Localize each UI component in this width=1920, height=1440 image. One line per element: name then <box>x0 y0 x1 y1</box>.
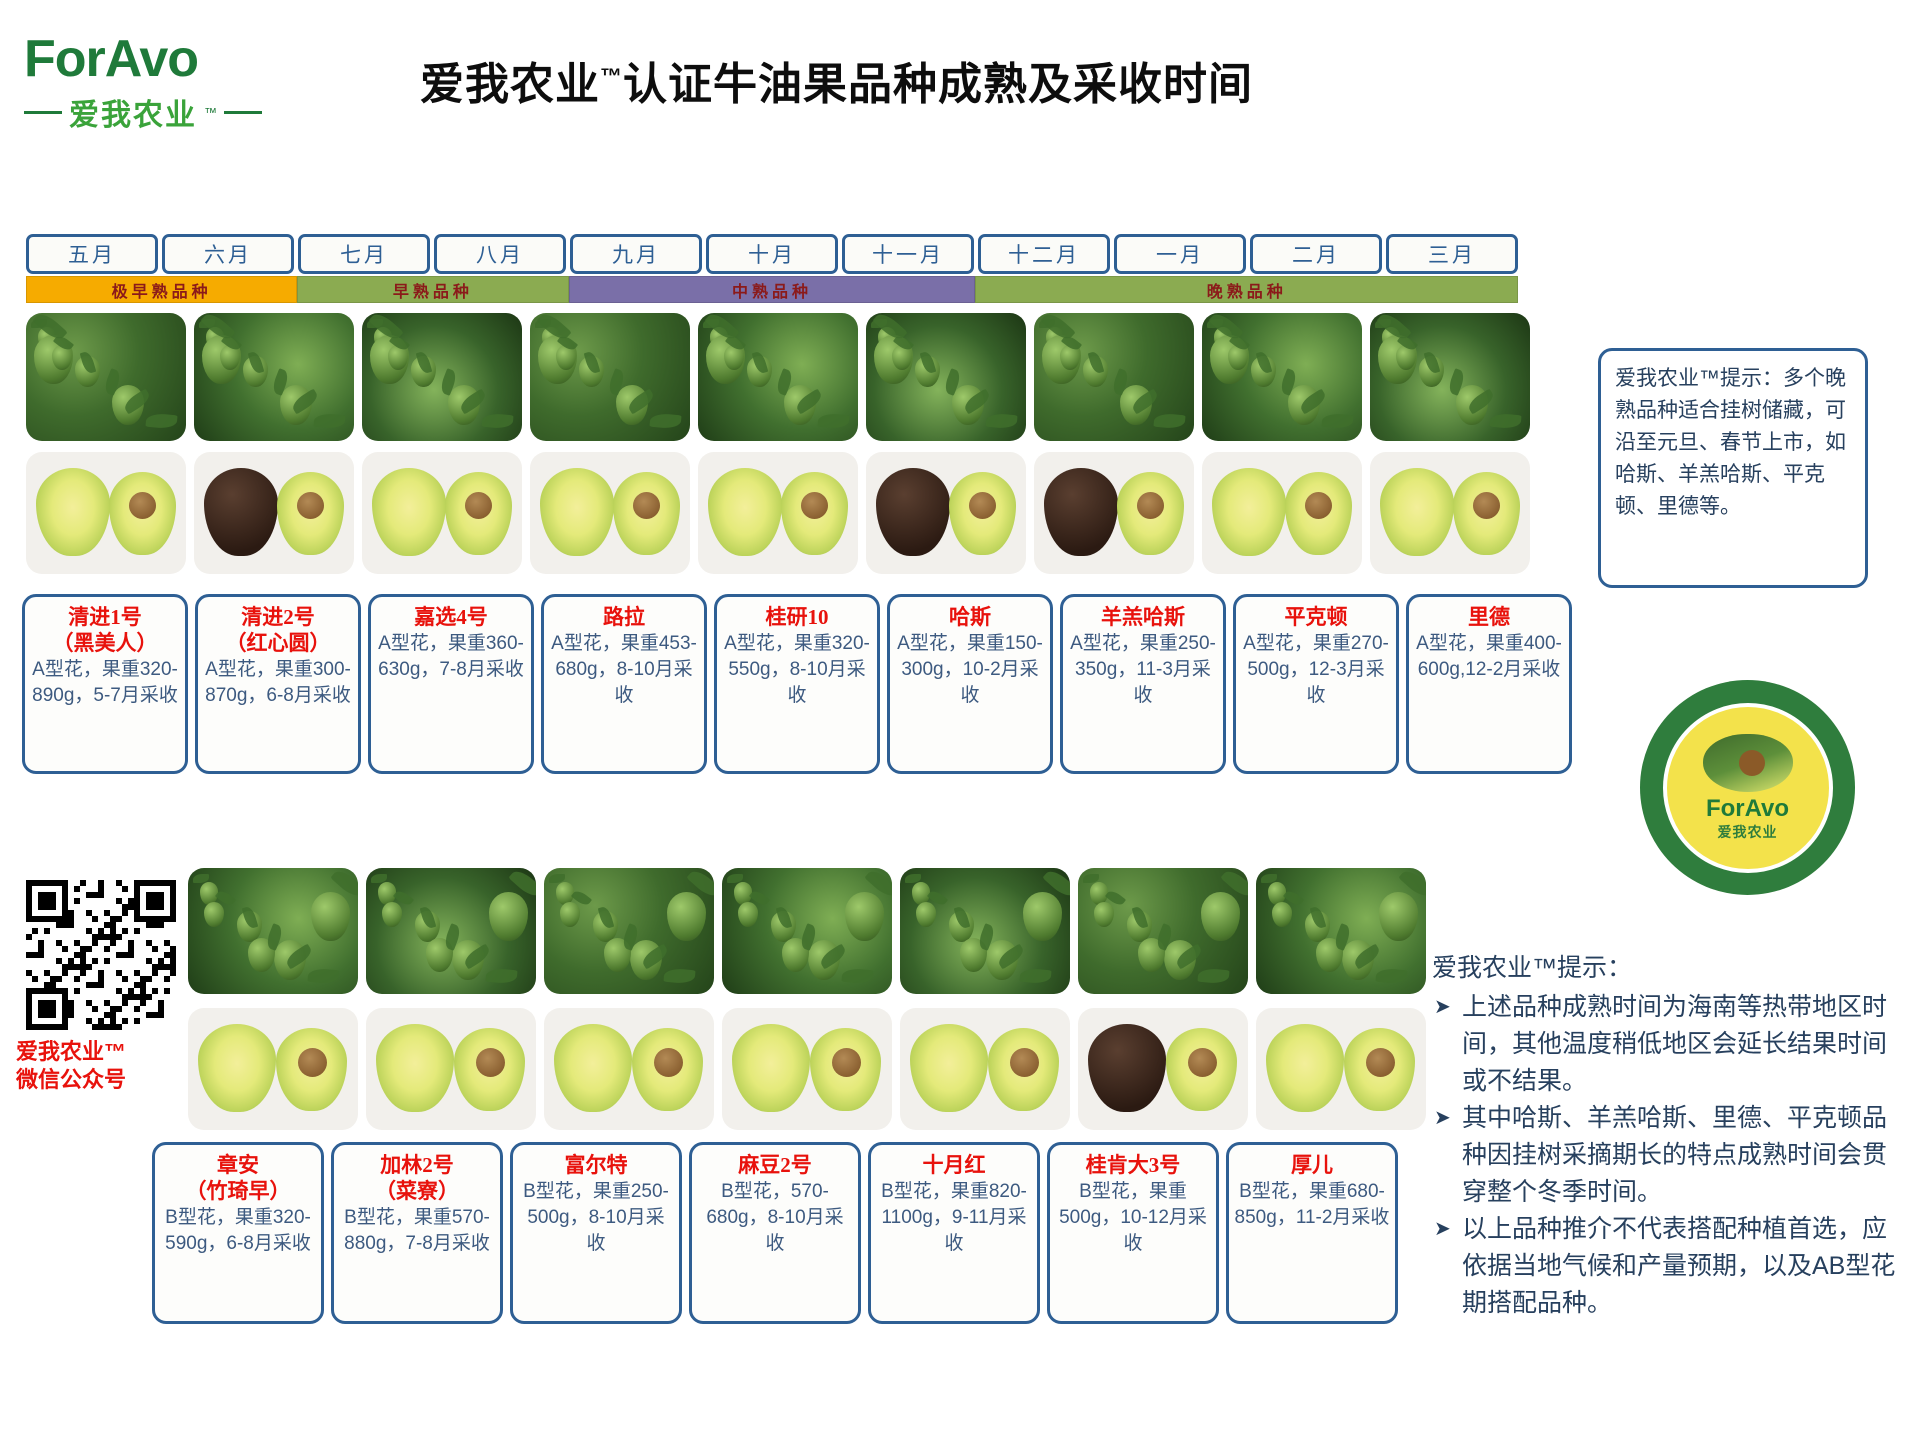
seal-chinese: 爱我农业 <box>1718 822 1778 842</box>
variety-description: B型花，570-680g，8-10月采收 <box>697 1179 853 1257</box>
variety-card[interactable]: 羊羔哈斯A型花，果重250-350g，11-3月采收 <box>1060 594 1226 774</box>
tree-photo <box>26 313 186 441</box>
footer-notes: 爱我农业™提示： 上述品种成熟时间为海南等热带地区时间，其他温度稍低地区会延长结… <box>1432 950 1902 1322</box>
qr-code[interactable] <box>26 880 176 1030</box>
variety-description: A型花，果重320-890g，5-7月采收 <box>30 657 180 709</box>
variety-name: 厚儿 <box>1234 1152 1390 1178</box>
avocado-half <box>910 1024 988 1112</box>
month-cell: 九月 <box>570 234 702 274</box>
variety-name: 嘉选4号 <box>376 604 526 630</box>
ripening-band: 晚熟品种 <box>975 276 1518 303</box>
leaf-shape <box>985 413 1017 430</box>
avocado-pit <box>129 492 156 519</box>
tree-photo <box>722 868 892 994</box>
avocado-pit <box>654 1048 683 1077</box>
leaf-shape <box>485 968 517 985</box>
month-cell: 三月 <box>1386 234 1518 274</box>
variety-name: 羊羔哈斯 <box>1068 604 1218 630</box>
avocado-pit <box>1188 1048 1217 1077</box>
variety-card[interactable]: 里德A型花，果重400-600g,12-2月采收 <box>1406 594 1572 774</box>
footer-note-item: 上述品种成熟时间为海南等热带地区时间，其他温度稍低地区会延长结果时间或不结果。 <box>1432 989 1902 1100</box>
avocado-half <box>1212 468 1286 556</box>
seal-wordmark: ForAvo <box>1706 796 1789 822</box>
tree-photo <box>1202 313 1362 441</box>
footer-note-item: 其中哈斯、羊羔哈斯、里德、平克顿品种因挂树采摘期长的特点成熟时间会贯穿整个冬季时… <box>1432 1100 1902 1211</box>
variety-alias: （竹琦早） <box>160 1178 316 1204</box>
leaf-shape <box>1489 413 1521 430</box>
footer-notes-heading: 爱我农业™提示： <box>1432 950 1902 987</box>
variety-name: 路拉 <box>549 604 699 630</box>
logo-word-text: ForAvo <box>24 30 198 88</box>
variety-card[interactable]: 章安（竹琦早）B型花，果重320-590g，6-8月采收 <box>152 1142 324 1324</box>
tree-photo <box>544 868 714 994</box>
variety-description: A型花，果重250-350g，11-3月采收 <box>1068 631 1218 709</box>
avocado-half <box>540 468 614 556</box>
footer-notes-list: 上述品种成熟时间为海南等热带地区时间，其他温度稍低地区会延长结果时间或不结果。其… <box>1432 989 1902 1322</box>
brand-logo: ForAvo 爱我农业 ™ <box>24 30 294 145</box>
variety-name: 加林2号 <box>339 1152 495 1178</box>
avocado-half <box>204 468 278 556</box>
tree-photo <box>866 313 1026 441</box>
variety-name: 十月红 <box>876 1152 1032 1178</box>
cut-fruit-photo <box>1256 1008 1426 1130</box>
leaf-shape <box>145 413 177 430</box>
tree-photo <box>1078 868 1248 994</box>
page-title-tm: ™ <box>600 63 623 88</box>
fruit-shape <box>1023 892 1062 941</box>
cut-fruit-photo <box>188 1008 358 1130</box>
tree-photo <box>900 868 1070 994</box>
variety-alias: （菜寮） <box>339 1178 495 1204</box>
cut-fruit-photo <box>1078 1008 1248 1130</box>
fruit-shape <box>382 902 402 927</box>
variety-name: 章安 <box>160 1152 316 1178</box>
leaf-shape <box>1153 413 1185 430</box>
tree-photo <box>698 313 858 441</box>
variety-description: B型花，果重320-590g，6-8月采收 <box>160 1205 316 1257</box>
fruit-shape <box>311 892 350 941</box>
variety-description: B型花，果重820-1100g，9-11月采收 <box>876 1179 1032 1257</box>
cut-photo-row-2 <box>188 1008 1426 1130</box>
leaf-shape <box>1375 968 1407 985</box>
month-cell: 十一月 <box>842 234 974 274</box>
avocado-icon <box>1703 734 1793 792</box>
cut-fruit-photo <box>362 452 522 574</box>
qr-cell <box>170 1024 176 1030</box>
variety-description: B型花，果重250-500g，8-10月采收 <box>518 1179 674 1257</box>
page-title: 爱我农业™认证牛油果品种成熟及采收时间 <box>420 48 1520 112</box>
avocado-half <box>1266 1024 1344 1112</box>
cut-fruit-photo <box>1370 452 1530 574</box>
variety-name: 桂肯大3号 <box>1055 1152 1211 1178</box>
logo-rule-right <box>224 111 262 114</box>
avocado-half <box>732 1024 810 1112</box>
avocado-half <box>876 468 950 556</box>
variety-description: A型花，果重300-870g，6-8月采收 <box>203 657 353 709</box>
month-header-row: 五月六月七月八月九月十月十一月十二月一月二月三月 <box>26 234 1518 274</box>
qr-caption-line2: 微信公众号 <box>16 1066 196 1094</box>
leaf-shape <box>307 968 339 985</box>
variety-description: B型花，果重570-880g，7-8月采收 <box>339 1205 495 1257</box>
variety-card[interactable]: 平克顿A型花，果重270-500g，12-3月采收 <box>1233 594 1399 774</box>
avocado-half <box>1380 468 1454 556</box>
avocado-half <box>554 1024 632 1112</box>
variety-description: B型花，果重500g，10-12月采收 <box>1055 1179 1211 1257</box>
leaf-shape <box>649 413 681 430</box>
variety-card[interactable]: 富尔特B型花，果重250-500g，8-10月采收 <box>510 1142 682 1324</box>
avocado-half <box>372 468 446 556</box>
infographic-page: ForAvo 爱我农业 ™ 爱我农业™认证牛油果品种成熟及采收时间 五月六月七月… <box>0 0 1920 1440</box>
variety-name: 清进2号 <box>203 604 353 630</box>
avocado-half <box>376 1024 454 1112</box>
month-cell: 六月 <box>162 234 294 274</box>
variety-description: A型花，果重320-550g，8-10月采收 <box>722 631 872 709</box>
tree-photo <box>362 313 522 441</box>
cut-fruit-photo <box>900 1008 1070 1130</box>
cut-fruit-photo <box>366 1008 536 1130</box>
avocado-half <box>1088 1024 1166 1112</box>
logo-wordmark: ForAvo <box>24 30 294 88</box>
tree-photo-row-2 <box>188 868 1426 994</box>
variety-description: A型花，果重360-630g，7-8月采收 <box>376 631 526 683</box>
fruit-shape <box>667 892 706 941</box>
variety-name: 麻豆2号 <box>697 1152 853 1178</box>
variety-name: 哈斯 <box>895 604 1045 630</box>
leaf-shape <box>817 413 849 430</box>
cut-fruit-photo <box>26 452 186 574</box>
variety-description: A型花，果重453-680g，8-10月采收 <box>549 631 699 709</box>
avocado-pit <box>465 492 492 519</box>
variety-card[interactable]: 路拉A型花，果重453-680g，8-10月采收 <box>541 594 707 774</box>
avocado-pit <box>1366 1048 1395 1077</box>
cut-fruit-photo <box>1202 452 1362 574</box>
fruit-shape <box>738 902 758 927</box>
variety-card[interactable]: 清进2号（红心圆）A型花，果重300-870g，6-8月采收 <box>195 594 361 774</box>
avocado-pit <box>633 492 660 519</box>
leaf-shape <box>313 413 345 430</box>
avocado-pit <box>298 1048 327 1077</box>
variety-name: 桂研10 <box>722 604 872 630</box>
avocado-pit <box>1010 1048 1039 1077</box>
variety-card[interactable]: 十月红B型花，果重820-1100g，9-11月采收 <box>868 1142 1040 1324</box>
month-cell: 八月 <box>434 234 566 274</box>
cut-fruit-photo <box>866 452 1026 574</box>
variety-card[interactable]: 厚儿B型花，果重680-850g，11-2月采收 <box>1226 1142 1398 1324</box>
avocado-pit <box>1473 492 1500 519</box>
avocado-pit <box>832 1048 861 1077</box>
avocado-half <box>1044 468 1118 556</box>
cut-fruit-photo <box>722 1008 892 1130</box>
ripening-band: 极早熟品种 <box>26 276 297 303</box>
ripening-band: 早熟品种 <box>297 276 568 303</box>
variety-card[interactable]: 加林2号（菜寮）B型花，果重570-880g，7-8月采收 <box>331 1142 503 1324</box>
tree-photo <box>1256 868 1426 994</box>
cut-fruit-photo <box>544 1008 714 1130</box>
logo-rule-left <box>24 111 62 114</box>
certification-seal: ForAvo 爱我农业 <box>1640 680 1855 895</box>
variety-name: 里德 <box>1414 604 1564 630</box>
fruit-shape <box>489 892 528 941</box>
fruit-shape <box>1201 892 1240 941</box>
variety-alias: （黑美人） <box>30 630 180 656</box>
leaf-shape <box>481 413 513 430</box>
variety-description: A型花，果重400-600g,12-2月采收 <box>1414 631 1564 683</box>
leaf-shape <box>663 968 695 985</box>
fruit-shape <box>1094 902 1114 927</box>
tip-box-top: 爱我农业™提示：多个晚熟品种适合挂树储藏，可沿至元旦、春节上市，如哈斯、羊羔哈斯… <box>1598 348 1868 588</box>
avocado-half <box>708 468 782 556</box>
leaf-shape <box>1019 968 1051 985</box>
avocado-pit <box>969 492 996 519</box>
variety-card[interactable]: 清进1号（黑美人）A型花，果重320-890g，5-7月采收 <box>22 594 188 774</box>
avocado-pit <box>476 1048 505 1077</box>
month-cell: 十月 <box>706 234 838 274</box>
variety-card-row-1: 清进1号（黑美人）A型花，果重320-890g，5-7月采收清进2号（红心圆）A… <box>22 594 1572 774</box>
leaf-shape <box>1321 413 1353 430</box>
variety-card-row-2: 章安（竹琦早）B型花，果重320-590g，6-8月采收加林2号（菜寮）B型花，… <box>152 1142 1398 1324</box>
variety-card[interactable]: 哈斯A型花，果重150-300g，10-2月采收 <box>887 594 1053 774</box>
page-title-brand: 爱我农业 <box>420 60 600 109</box>
qr-caption: 爱我农业™ 微信公众号 <box>16 1038 196 1094</box>
tree-photo <box>1370 313 1530 441</box>
variety-name: 清进1号 <box>30 604 180 630</box>
variety-description: A型花，果重270-500g，12-3月采收 <box>1241 631 1391 709</box>
month-cell: 一月 <box>1114 234 1246 274</box>
leaf-shape <box>841 968 873 985</box>
ripening-band: 中熟品种 <box>569 276 976 303</box>
page-title-rest: 认证牛油果品种成熟及采收时间 <box>623 60 1253 109</box>
cut-fruit-photo <box>1034 452 1194 574</box>
fruit-shape <box>560 902 580 927</box>
avocado-pit <box>801 492 828 519</box>
logo-tm-mark: ™ <box>204 105 217 120</box>
tree-photo <box>194 313 354 441</box>
tree-photo <box>366 868 536 994</box>
logo-chinese-lockup: 爱我农业 ™ <box>24 90 294 134</box>
variety-name: 平克顿 <box>1241 604 1391 630</box>
cut-fruit-photo <box>530 452 690 574</box>
avocado-pit <box>1137 492 1164 519</box>
leaf-shape <box>1197 968 1229 985</box>
variety-card[interactable]: 麻豆2号B型花，570-680g，8-10月采收 <box>689 1142 861 1324</box>
variety-card[interactable]: 嘉选4号A型花，果重360-630g，7-8月采收 <box>368 594 534 774</box>
fruit-shape <box>204 902 224 927</box>
tree-photo <box>1034 313 1194 441</box>
month-cell: 七月 <box>298 234 430 274</box>
tree-photo <box>530 313 690 441</box>
variety-card[interactable]: 桂研10A型花，果重320-550g，8-10月采收 <box>714 594 880 774</box>
avocado-pit <box>297 492 324 519</box>
cut-fruit-photo <box>194 452 354 574</box>
avocado-pit <box>1305 492 1332 519</box>
fruit-shape <box>845 892 884 941</box>
tree-photo-row-1 <box>26 313 1530 441</box>
avocado-half <box>198 1024 276 1112</box>
cut-photo-row-1 <box>26 452 1530 574</box>
variety-card[interactable]: 桂肯大3号B型花，果重500g，10-12月采收 <box>1047 1142 1219 1324</box>
tree-photo <box>188 868 358 994</box>
tip-box-top-text: 爱我农业™提示：多个晚熟品种适合挂树储藏，可沿至元旦、春节上市，如哈斯、羊羔哈斯… <box>1615 367 1846 518</box>
variety-description: B型花，果重680-850g，11-2月采收 <box>1234 1179 1390 1231</box>
month-cell: 十二月 <box>978 234 1110 274</box>
fruit-shape <box>916 902 936 927</box>
cut-fruit-photo <box>698 452 858 574</box>
month-cell: 五月 <box>26 234 158 274</box>
qr-caption-line1: 爱我农业™ <box>16 1038 196 1066</box>
variety-alias: （红心圆） <box>203 630 353 656</box>
footer-note-item: 以上品种推介不代表搭配种植首选，应依据当地气候和产量预期，以及AB型花期搭配品种… <box>1432 1211 1902 1322</box>
avocado-half <box>36 468 110 556</box>
ripening-band-row: 极早熟品种早熟品种中熟品种晚熟品种 <box>26 276 1518 303</box>
logo-chinese-text: 爱我农业 <box>69 90 197 134</box>
fruit-shape <box>1272 902 1292 927</box>
qr-code-matrix <box>26 880 176 1030</box>
fruit-shape <box>1379 892 1418 941</box>
variety-description: A型花，果重150-300g，10-2月采收 <box>895 631 1045 709</box>
month-cell: 二月 <box>1250 234 1382 274</box>
variety-name: 富尔特 <box>518 1152 674 1178</box>
seal-inner: ForAvo 爱我农业 <box>1663 703 1833 873</box>
